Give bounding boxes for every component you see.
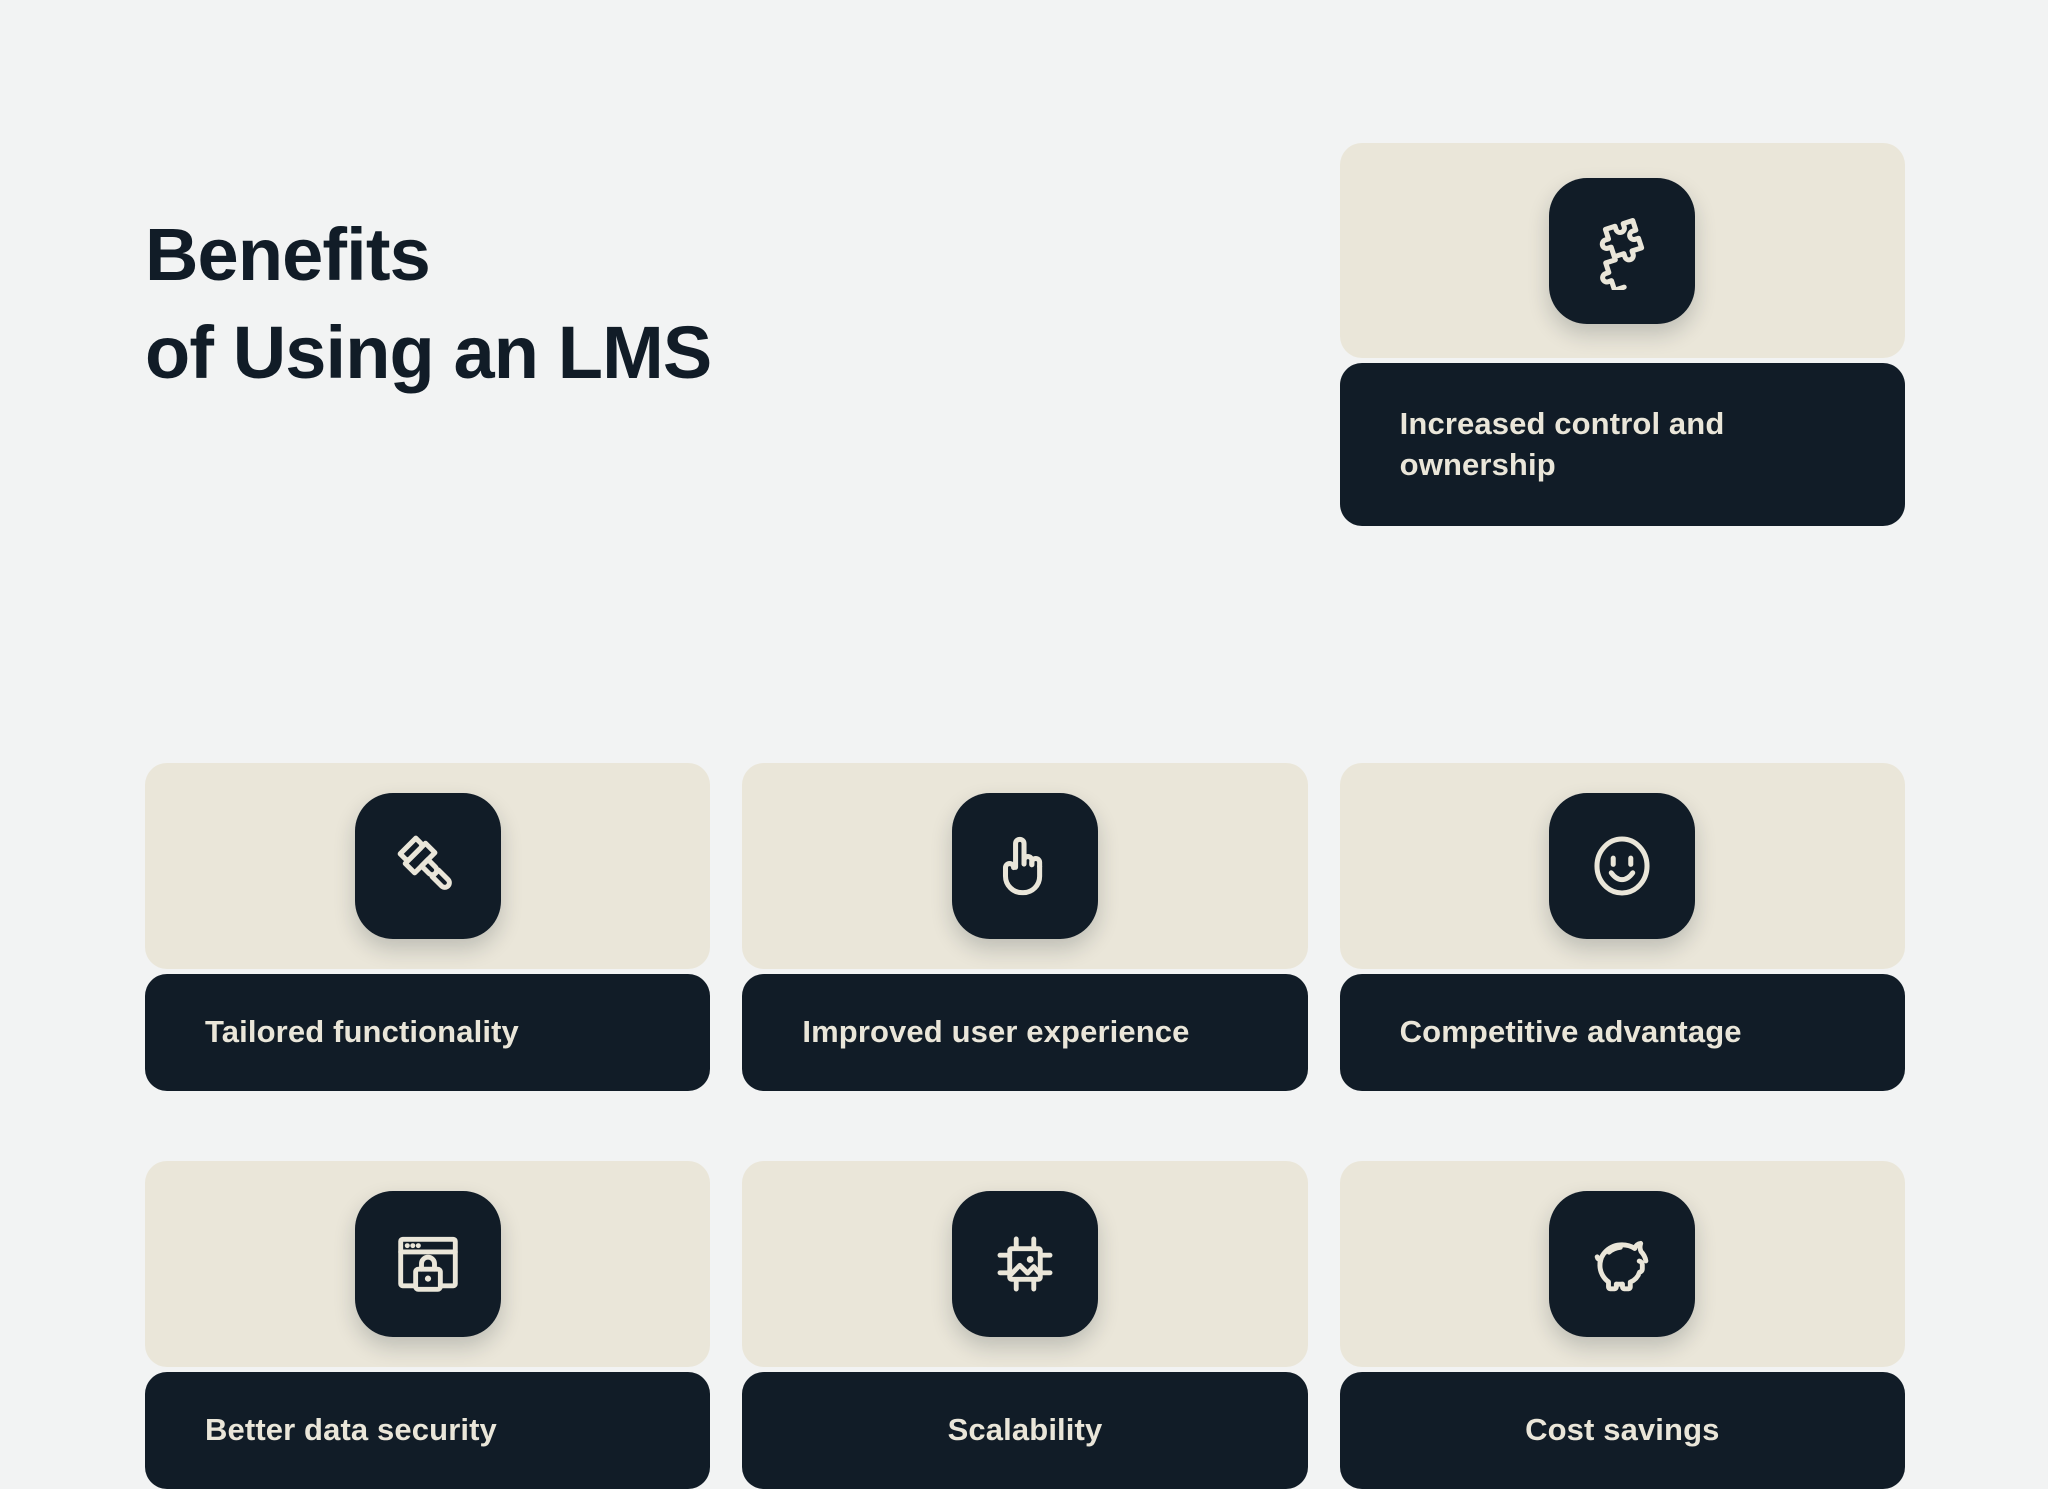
icon-tile [1549,178,1695,324]
card-icon-panel [145,763,710,969]
card-icon-panel [1340,1161,1905,1367]
benefit-card-improved-user-experience[interactable]: Improved user experience [742,763,1307,1091]
icon-tile [1549,793,1695,939]
image-crop-icon [986,1225,1064,1303]
smiley-face-icon [1583,827,1661,905]
benefit-card-cost-savings[interactable]: Cost savings [1340,1161,1905,1489]
card-label-panel: Better data security [145,1372,710,1489]
benefit-card-increased-control-and-ownership[interactable]: Increased control and ownership [1340,143,1905,526]
icon-tile [355,793,501,939]
benefit-card-tailored-functionality[interactable]: Tailored functionality [145,763,710,1091]
icon-tile [1549,1191,1695,1337]
card-label: Tailored functionality [205,1012,519,1053]
card-label-panel: Scalability [742,1372,1307,1489]
card-icon-panel [742,763,1307,969]
card-label: Competitive advantage [1400,1012,1742,1053]
card-label-panel: Tailored functionality [145,974,710,1091]
benefit-card-scalability[interactable]: Scalability [742,1161,1307,1489]
card-label: Increased control and ownership [1400,404,1845,486]
card-label-panel: Cost savings [1340,1372,1905,1489]
card-label-panel: Increased control and ownership [1340,363,1905,526]
icon-tile [952,793,1098,939]
card-label: Cost savings [1525,1410,1719,1451]
paint-brush-icon [389,827,467,905]
piggy-bank-icon [1583,1225,1661,1303]
card-label-panel: Improved user experience [742,974,1307,1091]
card-label-panel: Competitive advantage [1340,974,1905,1091]
card-icon-panel [1340,143,1905,358]
benefits-grid: Increased control and ownership Tailored… [145,143,1905,1489]
icon-tile [952,1191,1098,1337]
icon-tile [355,1191,501,1337]
card-label: Better data security [205,1410,497,1451]
card-icon-panel [1340,763,1905,969]
pointing-hand-icon [986,827,1064,905]
benefit-card-better-data-security[interactable]: Better data security [145,1161,710,1489]
card-icon-panel [145,1161,710,1367]
browser-lock-icon [389,1225,467,1303]
card-label: Improved user experience [802,1012,1189,1053]
card-label: Scalability [948,1410,1103,1451]
puzzle-piece-icon [1583,212,1661,290]
benefit-card-competitive-advantage[interactable]: Competitive advantage [1340,763,1905,1091]
card-icon-panel [742,1161,1307,1367]
